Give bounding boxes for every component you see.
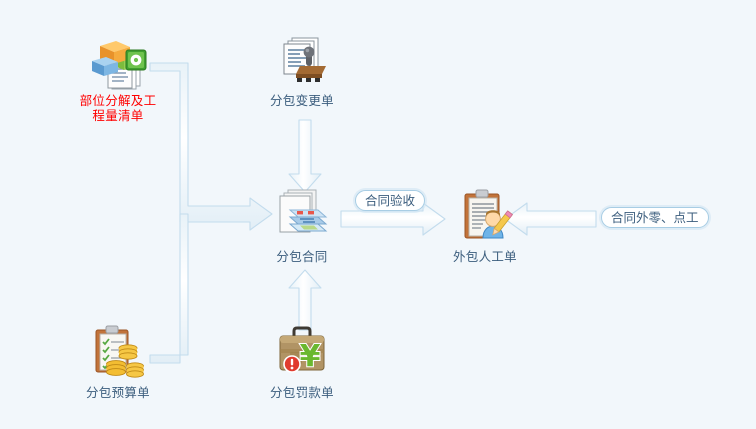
document-stamp-icon	[270, 30, 334, 90]
connector-penalty-to-subcontract	[289, 270, 321, 330]
edge-label-extra-work[interactable]: 合同外零、点工	[601, 207, 709, 228]
blocks-gear-document-icon	[86, 30, 150, 90]
node-label: 外包人工单	[427, 249, 543, 264]
clipboard-coins-icon	[86, 322, 150, 382]
node-subcontract[interactable]: 分包合同	[244, 186, 360, 264]
flow-diagram-canvas: 部位分解及工 程量清单	[0, 0, 756, 429]
briefcase-yen-alert-icon: ¥	[270, 322, 334, 382]
node-outsource-labor[interactable]: 外包人工单	[427, 186, 543, 264]
node-wbs[interactable]: 部位分解及工 程量清单	[60, 30, 176, 123]
edge-label-acceptance[interactable]: 合同验收	[355, 190, 425, 211]
svg-text:¥: ¥	[300, 339, 321, 374]
node-change-order[interactable]: 分包变更单	[244, 30, 360, 108]
node-label: 部位分解及工 程量清单	[60, 93, 176, 123]
connector-changeorder-to-subcontract	[289, 120, 321, 192]
node-label: 分包变更单	[244, 93, 360, 108]
node-label: 分包合同	[244, 249, 360, 264]
node-label: 分包罚款单	[244, 385, 360, 400]
node-label: 分包预算单	[60, 385, 176, 400]
node-penalty[interactable]: ¥ 分包罚款单	[244, 322, 360, 400]
node-budget[interactable]: 分包预算单	[60, 322, 176, 400]
clipboard-person-pencil-icon	[453, 186, 517, 246]
layered-contract-icon	[270, 186, 334, 246]
